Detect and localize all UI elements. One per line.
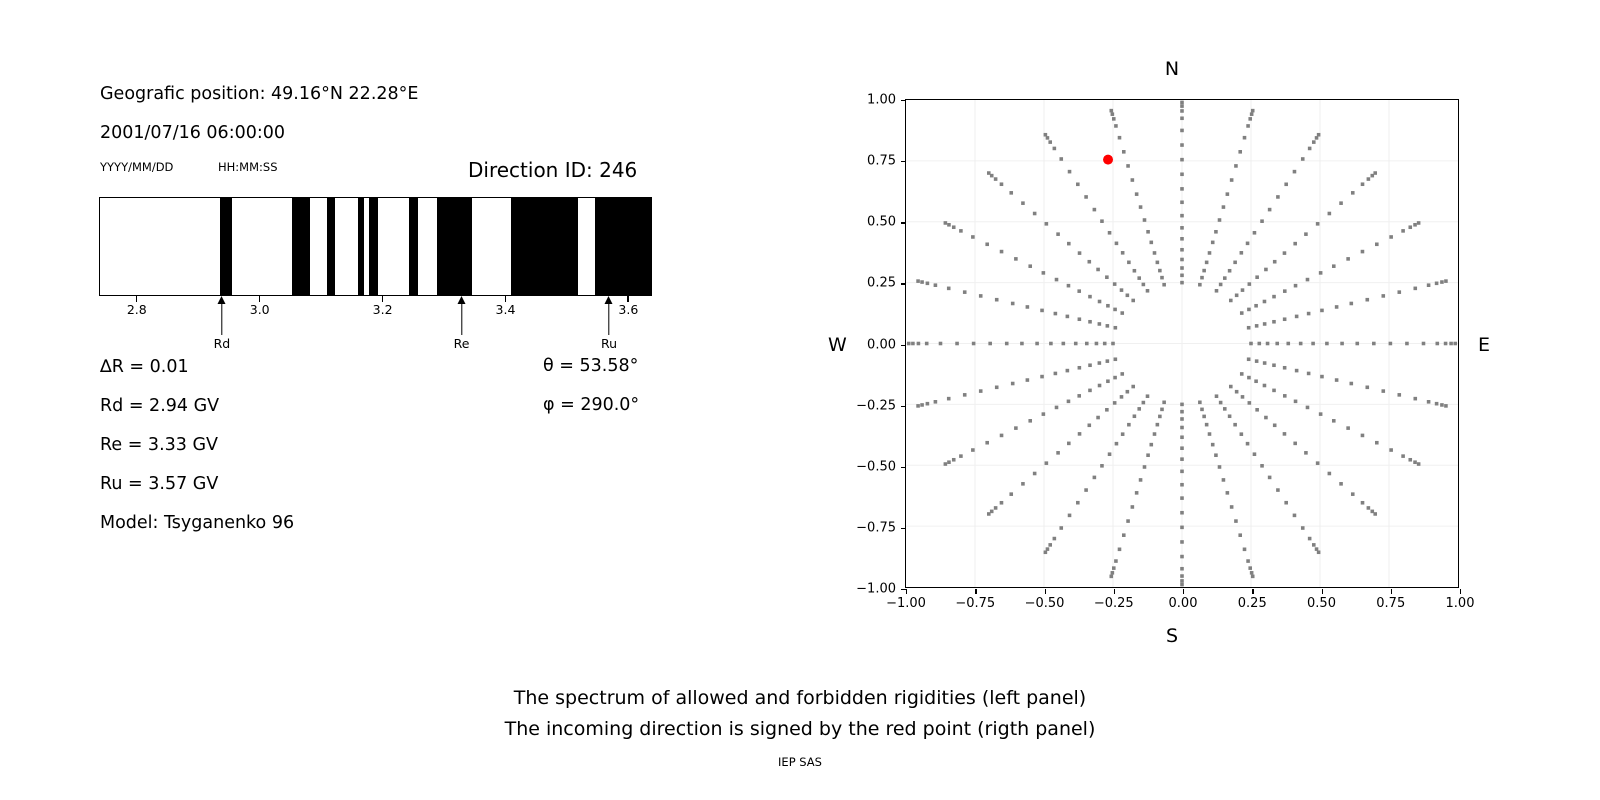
sky-map-y-tick bbox=[901, 345, 906, 346]
direction-dot bbox=[1180, 158, 1184, 162]
sky-map-x-tick bbox=[906, 589, 907, 594]
sky-map-x-tick bbox=[1460, 589, 1461, 594]
direction-dot bbox=[1180, 143, 1184, 147]
direction-dot bbox=[947, 397, 951, 401]
direction-dot bbox=[1295, 369, 1299, 373]
direction-dot bbox=[1440, 280, 1444, 284]
direction-dot bbox=[1264, 416, 1268, 420]
direction-dot bbox=[1249, 342, 1253, 346]
direction-dot bbox=[1112, 566, 1116, 570]
direction-dot bbox=[1255, 359, 1259, 363]
direction-dot bbox=[1373, 512, 1377, 516]
direction-dot bbox=[1312, 543, 1316, 547]
direction-dot bbox=[1180, 200, 1184, 204]
direction-dot bbox=[1162, 401, 1166, 405]
direction-dot bbox=[920, 403, 924, 407]
direction-dot bbox=[1137, 276, 1141, 280]
direction-dot bbox=[1355, 342, 1359, 346]
direction-dot bbox=[1299, 342, 1303, 346]
direction-dot bbox=[1014, 257, 1018, 261]
direction-dot bbox=[926, 402, 930, 406]
direction-dot bbox=[1180, 129, 1184, 133]
direction-dot bbox=[1251, 109, 1255, 113]
sky-map-x-tick-label: −1.00 bbox=[886, 596, 926, 611]
direction-dot bbox=[1367, 506, 1371, 510]
direction-dot bbox=[1112, 117, 1116, 121]
direction-dot bbox=[1098, 361, 1102, 365]
direction-dot bbox=[1077, 394, 1081, 398]
direction-dot bbox=[1146, 230, 1150, 234]
direction-dot bbox=[1109, 575, 1113, 579]
direction-dot bbox=[985, 242, 989, 246]
direction-dot bbox=[1215, 289, 1219, 293]
direction-dot bbox=[1093, 476, 1097, 480]
direction-dot bbox=[1373, 171, 1377, 175]
direction-dot bbox=[1180, 248, 1184, 252]
direction-dot bbox=[1435, 402, 1439, 406]
direction-dot bbox=[1230, 505, 1234, 509]
direction-dot bbox=[1235, 390, 1239, 394]
direction-dot bbox=[1045, 461, 1049, 465]
direction-dot bbox=[1250, 571, 1254, 575]
direction-dot bbox=[1453, 342, 1457, 346]
direction-dot bbox=[1276, 488, 1280, 492]
direction-dot bbox=[1180, 540, 1184, 544]
direction-dot bbox=[1248, 117, 1252, 121]
direction-dot bbox=[1156, 423, 1160, 427]
direction-dot bbox=[1180, 403, 1184, 407]
direction-dot bbox=[1254, 379, 1258, 383]
direction-dot bbox=[1312, 140, 1316, 144]
sky-map-y-tick bbox=[901, 222, 906, 223]
direction-dot bbox=[1000, 182, 1004, 186]
direction-dot bbox=[1153, 251, 1157, 255]
direction-dot bbox=[1111, 571, 1115, 575]
direction-dot bbox=[1127, 423, 1131, 427]
direction-dot bbox=[1328, 212, 1332, 216]
direction-dot bbox=[1272, 295, 1276, 299]
direction-dot bbox=[1260, 219, 1264, 223]
direction-dot bbox=[1293, 242, 1297, 246]
direction-dot bbox=[1068, 170, 1072, 174]
direction-dot bbox=[972, 342, 976, 346]
direction-dot bbox=[1009, 191, 1013, 195]
direction-dot bbox=[1033, 472, 1037, 476]
sky-map-x-tick bbox=[1322, 589, 1323, 594]
direction-dot bbox=[1067, 284, 1071, 288]
direction-dot bbox=[1040, 375, 1044, 379]
direction-dot bbox=[1026, 305, 1030, 309]
direction-dot bbox=[1230, 178, 1234, 182]
direction-dot bbox=[1180, 281, 1184, 285]
direction-dot bbox=[1053, 537, 1057, 541]
direction-dot bbox=[1339, 201, 1343, 205]
direction-dot bbox=[1251, 575, 1255, 579]
direction-dot bbox=[1417, 221, 1421, 225]
selected-direction-point bbox=[1103, 155, 1113, 165]
direction-dot bbox=[1180, 104, 1184, 108]
direction-dot bbox=[1121, 432, 1125, 436]
sky-map-x-tick-label: 0.00 bbox=[1169, 596, 1198, 611]
direction-dot bbox=[1158, 415, 1162, 419]
direction-dot bbox=[1044, 550, 1048, 554]
direction-dot bbox=[1180, 109, 1184, 113]
direction-dot bbox=[1142, 283, 1146, 287]
direction-dot bbox=[1332, 264, 1336, 268]
direction-dot bbox=[1397, 393, 1401, 397]
direction-dot bbox=[1180, 417, 1184, 421]
direction-dot bbox=[1143, 465, 1147, 469]
direction-dot bbox=[1088, 423, 1092, 427]
direction-dot bbox=[1319, 271, 1323, 275]
direction-dot bbox=[1246, 442, 1250, 446]
sky-map-y-tick bbox=[901, 100, 906, 101]
direction-dot bbox=[1243, 136, 1247, 140]
sky-map-y-tick bbox=[901, 283, 906, 284]
direction-dot bbox=[1440, 403, 1444, 407]
direction-dot bbox=[1126, 519, 1130, 523]
direction-dot bbox=[1286, 342, 1290, 346]
direction-dot bbox=[1405, 342, 1409, 346]
direction-dot bbox=[1229, 385, 1233, 389]
direction-dot bbox=[963, 393, 967, 397]
direction-dot bbox=[1308, 537, 1312, 541]
direction-dot bbox=[1100, 219, 1104, 223]
sky-map-x-tick-label: −0.75 bbox=[955, 596, 995, 611]
direction-dot bbox=[1118, 548, 1122, 552]
direction-dot bbox=[1131, 385, 1135, 389]
direction-dot bbox=[1131, 505, 1135, 509]
direction-dot bbox=[939, 342, 943, 346]
direction-dot bbox=[1417, 462, 1421, 466]
direction-dot bbox=[1180, 496, 1184, 500]
direction-dot bbox=[911, 342, 915, 346]
sky-map-y-tick-label: 0.25 bbox=[867, 276, 896, 291]
direction-dot bbox=[1078, 317, 1082, 321]
direction-dot bbox=[1226, 192, 1230, 196]
direction-dot bbox=[1320, 375, 1324, 379]
direction-dot bbox=[1120, 372, 1124, 376]
direction-dot bbox=[1332, 419, 1336, 423]
direction-dot bbox=[1067, 400, 1071, 404]
direction-dot bbox=[1301, 526, 1305, 530]
direction-dot bbox=[1317, 550, 1321, 554]
direction-dot bbox=[1401, 454, 1405, 458]
direction-dot bbox=[1304, 232, 1308, 236]
direction-dot bbox=[1381, 294, 1385, 298]
direction-dot bbox=[1106, 379, 1110, 383]
direction-dot bbox=[1413, 460, 1417, 464]
direction-dot bbox=[1126, 293, 1130, 297]
direction-dot bbox=[947, 287, 951, 291]
direction-dot bbox=[1113, 308, 1117, 312]
direction-dot bbox=[1248, 401, 1252, 405]
sky-map-y-tick bbox=[901, 528, 906, 529]
direction-dot bbox=[1413, 287, 1417, 291]
direction-dot bbox=[1283, 317, 1287, 321]
direction-dot bbox=[1014, 426, 1018, 430]
direction-dot bbox=[979, 389, 983, 393]
direction-dot bbox=[1272, 320, 1276, 324]
direction-dot bbox=[1180, 237, 1184, 241]
compass-east-label: E bbox=[1478, 334, 1490, 356]
sky-map-x-tick-label: 0.75 bbox=[1376, 596, 1405, 611]
sky-map-panel: −1.00−0.75−0.50−0.250.000.250.500.751.00… bbox=[0, 0, 1600, 660]
direction-dot bbox=[1180, 567, 1184, 571]
direction-dot bbox=[1158, 269, 1162, 273]
direction-dot bbox=[1042, 412, 1046, 416]
direction-dot bbox=[1228, 414, 1232, 418]
direction-dot bbox=[1066, 315, 1070, 319]
sky-map-y-tick bbox=[901, 161, 906, 162]
direction-dot bbox=[1084, 488, 1088, 492]
direction-dot bbox=[1257, 342, 1261, 346]
direction-dot bbox=[1306, 406, 1310, 410]
direction-dot bbox=[995, 298, 999, 302]
direction-dot bbox=[1000, 434, 1004, 438]
direction-dot bbox=[1351, 191, 1355, 195]
direction-dot bbox=[1240, 372, 1244, 376]
direction-dot bbox=[1055, 406, 1059, 410]
direction-dot bbox=[1149, 241, 1153, 245]
direction-dot bbox=[1335, 305, 1339, 309]
direction-dot bbox=[1088, 260, 1092, 264]
direction-dot bbox=[1011, 302, 1015, 306]
direction-dot bbox=[1325, 342, 1329, 346]
direction-dot bbox=[1062, 342, 1066, 346]
direction-dot bbox=[1234, 164, 1238, 168]
direction-dot bbox=[1078, 432, 1082, 436]
direction-dot bbox=[1198, 283, 1202, 287]
direction-dot bbox=[1211, 443, 1215, 447]
sky-map-x-tick bbox=[975, 589, 976, 594]
direction-dot bbox=[1200, 276, 1204, 280]
sky-map-x-tick bbox=[1183, 589, 1184, 594]
direction-dot bbox=[1283, 394, 1287, 398]
direction-dot bbox=[1005, 342, 1009, 346]
direction-dot bbox=[1142, 401, 1146, 405]
direction-dot bbox=[1076, 182, 1080, 186]
direction-dot bbox=[1315, 136, 1319, 140]
direction-dot bbox=[1413, 397, 1417, 401]
direction-dot bbox=[994, 506, 998, 510]
direction-dot bbox=[1235, 293, 1239, 297]
direction-dot bbox=[1035, 342, 1039, 346]
direction-dot bbox=[1084, 195, 1088, 199]
compass-west-label: W bbox=[828, 334, 847, 356]
direction-dot bbox=[1160, 408, 1164, 412]
direction-dot bbox=[1045, 222, 1049, 226]
direction-dot bbox=[1293, 514, 1297, 518]
direction-dot bbox=[1111, 112, 1115, 116]
sky-map-x-tick bbox=[1391, 589, 1392, 594]
direction-dot bbox=[1120, 288, 1124, 292]
direction-dot bbox=[1273, 423, 1277, 427]
direction-dot bbox=[1301, 157, 1305, 161]
direction-dot bbox=[1361, 434, 1365, 438]
direction-dot bbox=[994, 177, 998, 181]
direction-dot bbox=[1307, 312, 1311, 316]
direction-dot bbox=[1103, 342, 1107, 346]
direction-dot bbox=[1115, 442, 1119, 446]
direction-dot bbox=[1304, 451, 1308, 455]
direction-dot bbox=[1113, 376, 1117, 380]
direction-dot bbox=[1408, 458, 1412, 462]
direction-dot bbox=[1105, 408, 1109, 412]
direction-dot bbox=[1339, 482, 1343, 486]
direction-dot bbox=[1180, 483, 1184, 487]
direction-dot bbox=[1247, 308, 1251, 312]
direction-dot bbox=[1040, 309, 1044, 313]
footer-label: IEP SAS bbox=[0, 755, 1600, 769]
direction-dot bbox=[1268, 476, 1272, 480]
sky-map-y-tick-label: 0.75 bbox=[867, 154, 896, 169]
direction-dot bbox=[1113, 282, 1117, 286]
direction-dot bbox=[1100, 464, 1104, 468]
direction-dot bbox=[1026, 378, 1030, 382]
direction-dot bbox=[1284, 182, 1288, 186]
sky-map-y-tick-label: 1.00 bbox=[867, 93, 896, 108]
sky-map-y-tick-label: −0.75 bbox=[856, 520, 896, 535]
direction-dot bbox=[1436, 342, 1440, 346]
direction-dot bbox=[1444, 404, 1448, 408]
direction-dot bbox=[1320, 309, 1324, 313]
direction-dot bbox=[1054, 312, 1058, 316]
direction-dot bbox=[1056, 232, 1060, 236]
direction-dot bbox=[1054, 372, 1058, 376]
sky-map-svg bbox=[906, 100, 1458, 587]
direction-dot bbox=[1449, 342, 1453, 346]
direction-dot bbox=[1223, 276, 1227, 280]
direction-dot bbox=[1139, 478, 1143, 482]
direction-dot bbox=[1238, 533, 1242, 537]
direction-dot bbox=[1401, 229, 1405, 233]
direction-dot bbox=[1283, 432, 1287, 436]
direction-dot bbox=[1076, 501, 1080, 505]
direction-dot bbox=[1255, 275, 1259, 279]
direction-dot bbox=[1056, 451, 1060, 455]
direction-dot bbox=[1021, 482, 1025, 486]
direction-dot bbox=[1044, 133, 1048, 137]
direction-dot bbox=[1243, 548, 1247, 552]
direction-dot bbox=[1283, 251, 1287, 255]
direction-dot bbox=[1389, 235, 1393, 239]
direction-dot bbox=[1108, 231, 1112, 235]
direction-dot bbox=[1365, 298, 1369, 302]
direction-dot bbox=[1093, 208, 1097, 212]
direction-dot bbox=[1294, 284, 1298, 288]
sky-map-y-tick-label: −0.50 bbox=[856, 459, 896, 474]
direction-dot bbox=[1122, 150, 1126, 154]
direction-dot bbox=[1284, 501, 1288, 505]
direction-dot bbox=[1180, 258, 1184, 262]
direction-dot bbox=[1133, 269, 1137, 273]
sky-map-x-tick-label: 1.00 bbox=[1446, 596, 1475, 611]
direction-dot bbox=[1021, 201, 1025, 205]
direction-dot bbox=[952, 225, 956, 229]
sky-map-y-tick-label: 0.00 bbox=[867, 337, 896, 352]
sky-map-y-tick-label: −0.25 bbox=[856, 398, 896, 413]
direction-dot bbox=[963, 290, 967, 294]
direction-dot bbox=[1306, 278, 1310, 282]
direction-dot bbox=[1275, 342, 1279, 346]
direction-dot bbox=[1120, 395, 1124, 399]
direction-dot bbox=[1211, 241, 1215, 245]
direction-dot bbox=[934, 283, 938, 287]
direction-dot bbox=[1214, 230, 1218, 234]
direction-dot bbox=[985, 441, 989, 445]
direction-dot bbox=[1241, 288, 1245, 292]
direction-dot bbox=[1180, 187, 1184, 191]
direction-dot bbox=[1077, 289, 1081, 293]
direction-dot bbox=[1444, 342, 1448, 346]
direction-dot bbox=[1219, 283, 1223, 287]
direction-dot bbox=[1143, 218, 1147, 222]
direction-dot bbox=[952, 458, 956, 462]
direction-dot bbox=[1180, 457, 1184, 461]
direction-dot bbox=[1311, 342, 1315, 346]
direction-dot bbox=[1074, 342, 1078, 346]
direction-dot bbox=[1361, 501, 1365, 505]
direction-dot bbox=[1340, 342, 1344, 346]
direction-dot bbox=[1233, 261, 1237, 265]
direction-dot bbox=[1241, 395, 1245, 399]
direction-dot bbox=[926, 282, 930, 286]
direction-dot bbox=[1317, 133, 1321, 137]
direction-dot bbox=[1319, 412, 1323, 416]
direction-dot bbox=[1096, 268, 1100, 272]
direction-dot bbox=[1067, 442, 1071, 446]
direction-dot bbox=[955, 342, 959, 346]
direction-dot bbox=[1180, 274, 1184, 278]
direction-dot bbox=[1219, 401, 1223, 405]
direction-dot bbox=[1118, 136, 1122, 140]
direction-dot bbox=[1048, 140, 1052, 144]
direction-dot bbox=[1180, 511, 1184, 515]
direction-dot bbox=[1240, 311, 1244, 315]
direction-dot bbox=[1253, 452, 1257, 456]
direction-dot bbox=[1180, 172, 1184, 176]
direction-dot bbox=[1114, 124, 1118, 128]
direction-dot bbox=[1098, 384, 1102, 388]
direction-dot bbox=[1316, 222, 1320, 226]
direction-dot bbox=[959, 229, 963, 233]
direction-dot bbox=[1444, 279, 1448, 283]
direction-dot bbox=[1106, 304, 1110, 308]
direction-dot bbox=[1180, 101, 1184, 105]
direction-dot bbox=[1276, 195, 1280, 199]
direction-dot bbox=[971, 235, 975, 239]
direction-dot bbox=[934, 400, 938, 404]
direction-dot bbox=[1088, 320, 1092, 324]
direction-dot bbox=[1180, 579, 1184, 583]
direction-dot bbox=[1153, 432, 1157, 436]
direction-dot bbox=[1422, 342, 1426, 346]
direction-dot bbox=[1046, 136, 1050, 140]
direction-dot bbox=[1106, 359, 1110, 363]
direction-dot bbox=[1272, 363, 1276, 367]
direction-dot bbox=[1180, 435, 1184, 439]
sky-map-x-tick-label: 0.50 bbox=[1307, 596, 1336, 611]
direction-dot bbox=[1247, 357, 1251, 361]
direction-dot bbox=[1122, 533, 1126, 537]
direction-dot bbox=[1255, 324, 1259, 328]
direction-dot bbox=[916, 279, 920, 283]
direction-dot bbox=[1408, 225, 1412, 229]
sky-map-plot-area: −1.00−0.75−0.50−0.250.000.250.500.751.00… bbox=[905, 99, 1459, 588]
caption-line-1: The spectrum of allowed and forbidden ri… bbox=[0, 687, 1600, 709]
direction-dot bbox=[1105, 275, 1109, 279]
